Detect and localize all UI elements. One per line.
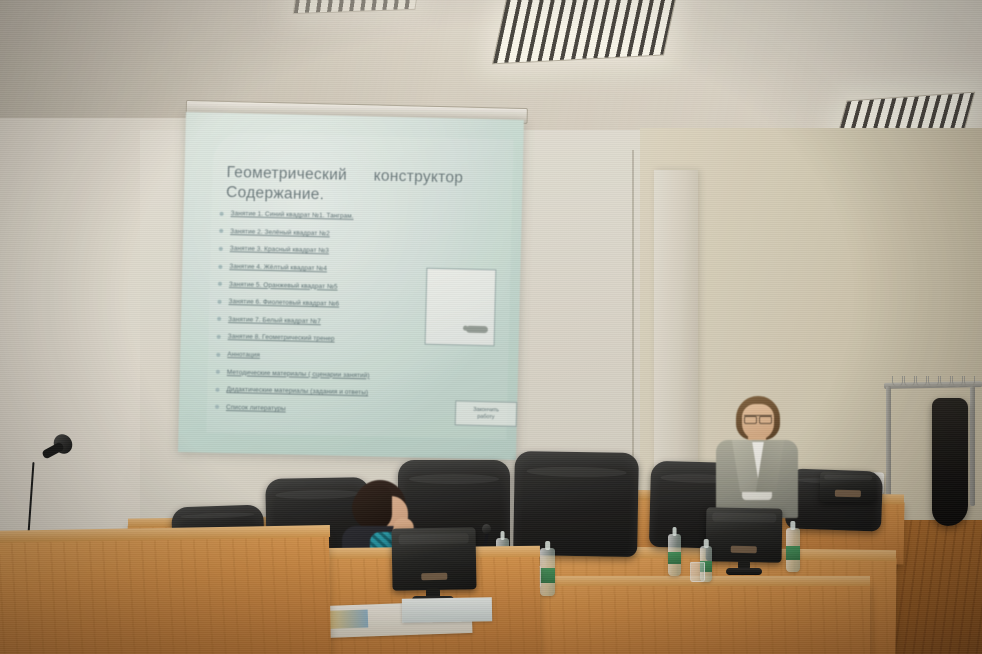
list-item-label: Занятие 4. Жёлтый квадрат №4 <box>229 263 327 272</box>
coat-rack-hooks <box>890 376 980 388</box>
standing-woman <box>714 396 800 518</box>
finish-button-label-line2: работу <box>477 413 494 419</box>
slide-title: Геометрический конструктор Содержание. <box>226 163 497 209</box>
drinking-glass[interactable] <box>690 562 705 582</box>
bullet-dot-icon <box>217 335 221 339</box>
bottle-label <box>540 568 555 582</box>
list-item-label: Занятие 6. Фиолетовый квадрат №6 <box>228 298 339 308</box>
slide-title-word-1: Геометрический <box>226 164 347 184</box>
bullet-dot-icon <box>217 317 221 321</box>
printed-materials[interactable] <box>402 597 492 623</box>
list-item-label: Аннотация <box>227 351 260 359</box>
thumbnail-dot-icon <box>463 326 468 331</box>
conference-hall-photo: Геометрический конструктор Содержание. З… <box>0 0 982 654</box>
list-item-label: Занятие 7. Белый квадрат №7 <box>228 316 321 325</box>
finish-button-label-line1: Закончить <box>473 406 499 413</box>
coat-rack-post <box>970 386 975 506</box>
hanging-coat <box>932 398 968 526</box>
bullet-dot-icon <box>218 264 222 268</box>
slide-title-word-2: конструктор <box>373 167 463 186</box>
bullet-dot-icon <box>216 370 220 374</box>
bullet-dot-icon <box>216 352 220 356</box>
bullet-dot-icon <box>218 282 222 286</box>
bullet-dot-icon <box>215 388 219 392</box>
computer-monitor[interactable] <box>820 472 877 503</box>
projection-screen: Геометрический конструктор Содержание. З… <box>178 112 524 460</box>
bullet-dot-icon <box>217 300 221 304</box>
list-item-label: Занятие 2. Зелёный квадрат №2 <box>230 228 330 237</box>
monitor-logo <box>731 546 757 553</box>
finish-work-button[interactable]: Закончитьработу <box>455 400 518 426</box>
monitor-stand-base <box>726 568 762 575</box>
list-item-label: Методические материалы ( сценарии заняти… <box>227 369 370 379</box>
list-item-label: Занятие 3. Красный квадрат №3 <box>230 246 329 255</box>
thumbnail-shape-icon <box>466 326 488 334</box>
monitor-logo <box>835 490 861 497</box>
water-bottle[interactable] <box>668 534 681 576</box>
louvered-light-panel-icon <box>492 0 678 64</box>
hair-front <box>352 486 392 530</box>
bullet-dot-icon <box>215 405 219 409</box>
list-item-label: Список литературы <box>226 404 286 412</box>
bottle-label <box>668 552 681 565</box>
slide-subtitle: Содержание. <box>226 184 325 203</box>
monitor-logo <box>421 573 447 580</box>
presentation-slide: Геометрический конструктор Содержание. З… <box>186 126 515 445</box>
list-item-label: Занятие 1. Синий квадрат №1. Танграм. <box>231 210 354 220</box>
office-chair[interactable] <box>513 451 639 557</box>
slide-thumbnail-placeholder <box>425 268 497 347</box>
list-item-label: Занятие 8. Геометрический тренер <box>228 333 335 343</box>
computer-monitor[interactable] <box>391 527 476 590</box>
bottle-label <box>786 546 800 559</box>
water-bottle[interactable] <box>786 528 800 572</box>
bullet-dot-icon <box>220 212 224 216</box>
microphone-head-icon <box>482 524 491 534</box>
water-bottle[interactable] <box>540 548 555 596</box>
bullet-dot-icon <box>219 229 223 233</box>
list-item-label: Дидактические материалы (задания и ответ… <box>226 386 368 396</box>
desk-tier-front-left <box>0 533 331 654</box>
list-item-label: Занятие 5. Оранжевый квадрат №5 <box>229 281 338 291</box>
bullet-dot-icon <box>219 247 223 251</box>
eyeglasses-icon <box>744 415 772 422</box>
computer-monitor[interactable] <box>706 507 783 562</box>
